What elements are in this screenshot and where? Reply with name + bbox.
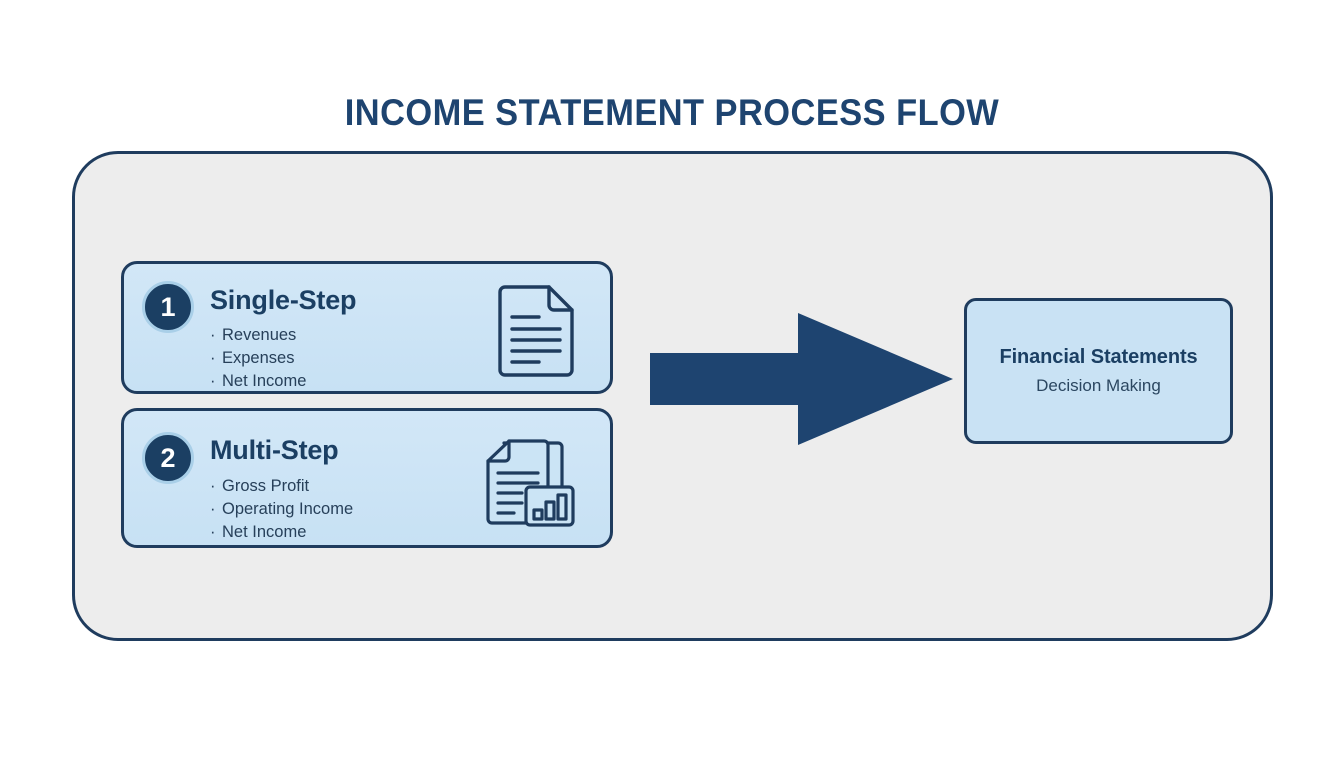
method-heading-multi-step: Multi-Step — [210, 435, 338, 466]
method-card-single-step[interactable]: 1 Single-Step ·Revenues ·Expenses ·Net I… — [121, 261, 613, 394]
document-chart-icon — [478, 431, 578, 538]
list-item-label: Expenses — [222, 349, 294, 367]
method-heading-single-step: Single-Step — [210, 285, 356, 316]
list-item-label: Net Income — [222, 523, 306, 541]
method-items-multi-step: ·Gross Profit ·Operating Income ·Net Inc… — [210, 475, 353, 544]
step-number-badge-1: 1 — [142, 281, 194, 333]
outcome-subtitle: Decision Making — [1036, 376, 1161, 396]
process-flow-panel: 1 Single-Step ·Revenues ·Expenses ·Net I… — [72, 151, 1273, 641]
right-arrow-icon — [650, 305, 953, 453]
outcome-box[interactable]: Financial Statements Decision Making — [964, 298, 1233, 444]
bullet-glyph: · — [210, 370, 222, 393]
bullet-glyph: · — [210, 475, 222, 498]
list-item: ·Expenses — [210, 347, 306, 370]
bullet-glyph: · — [210, 521, 222, 544]
list-item-label: Net Income — [222, 372, 306, 390]
bullet-glyph: · — [210, 498, 222, 521]
list-item: ·Net Income — [210, 521, 353, 544]
list-item: ·Gross Profit — [210, 475, 353, 498]
list-item-label: Gross Profit — [222, 477, 309, 495]
method-card-multi-step[interactable]: 2 Multi-Step ·Gross Profit ·Operating In… — [121, 408, 613, 548]
method-items-single-step: ·Revenues ·Expenses ·Net Income — [210, 324, 306, 393]
list-item: ·Net Income — [210, 370, 306, 393]
list-item: ·Operating Income — [210, 498, 353, 521]
list-item-label: Operating Income — [222, 500, 353, 518]
document-icon — [494, 283, 578, 384]
bullet-glyph: · — [210, 347, 222, 370]
outcome-title: Financial Statements — [999, 346, 1197, 369]
list-item-label: Revenues — [222, 326, 296, 344]
step-number-badge-2: 2 — [142, 432, 194, 484]
page-title: INCOME STATEMENT PROCESS FLOW — [47, 92, 1297, 134]
bullet-glyph: · — [210, 324, 222, 347]
list-item: ·Revenues — [210, 324, 306, 347]
